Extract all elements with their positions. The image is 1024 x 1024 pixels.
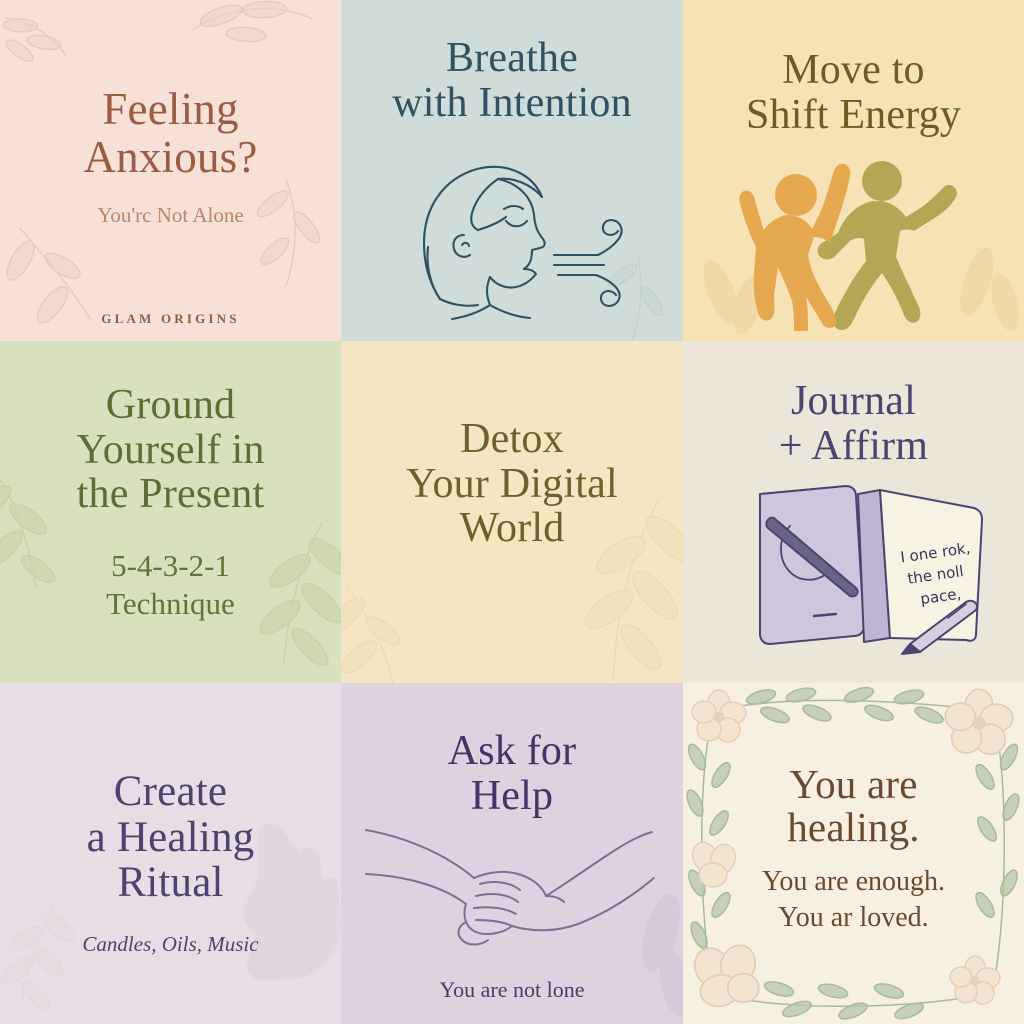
card-feeling-anxious: Feeling Anxious? You'rc Not Alone GLAM O… <box>0 0 341 341</box>
card-title: Ground Yourself in the Present <box>76 383 264 517</box>
card-title: Move to Shift Energy <box>746 48 961 137</box>
card-title: Feeling Anxious? <box>83 86 257 181</box>
poster-grid: Feeling Anxious? You'rc Not Alone GLAM O… <box>0 0 1024 1024</box>
card-journal-affirm: Journal + Affirm <box>683 341 1024 683</box>
card-title: Ask for Help <box>448 729 577 818</box>
dancing-figures-illustration <box>704 143 1004 338</box>
card-subtitle: You are not lone <box>439 977 584 1003</box>
card-subtitle: You are enough. You ar loved. <box>762 864 945 937</box>
card-subtitle: You'rc Not Alone <box>97 203 243 228</box>
breathing-face-illustration <box>382 135 642 330</box>
card-title: Detox Your Digital World <box>406 417 618 551</box>
card-title: Breathe with Intention <box>392 36 632 125</box>
card-detox-digital-world: Detox Your Digital World <box>341 341 683 683</box>
card-move-to-shift-energy: Move to Shift Energy <box>683 0 1024 341</box>
card-title: Create a Healing Ritual <box>87 769 255 906</box>
card-subtitle: Candles, Oils, Music <box>82 932 258 957</box>
card-subtitle: 5-4-3-2-1 Technique <box>106 547 235 624</box>
card-title: Journal + Affirm <box>779 379 928 468</box>
card-title: You are healing. <box>787 763 920 850</box>
card-affirmation-closing: You are healing. You are enough. You ar … <box>683 683 1024 1024</box>
card-ask-for-help: Ask for Help <box>341 683 683 1024</box>
notebooks-and-pen-illustration: I one rok, the noll pace, <box>704 476 1004 661</box>
card-create-healing-ritual: Create a Healing Ritual Candles, Oils, M… <box>0 683 341 1024</box>
card-breathe-with-intention: Breathe with Intention <box>341 0 683 341</box>
clasped-hands-illustration <box>362 822 662 967</box>
brand-label: GLAM ORIGINS <box>0 311 341 327</box>
card-ground-yourself: Ground Yourself in the Present 5-4-3-2-1… <box>0 341 341 683</box>
